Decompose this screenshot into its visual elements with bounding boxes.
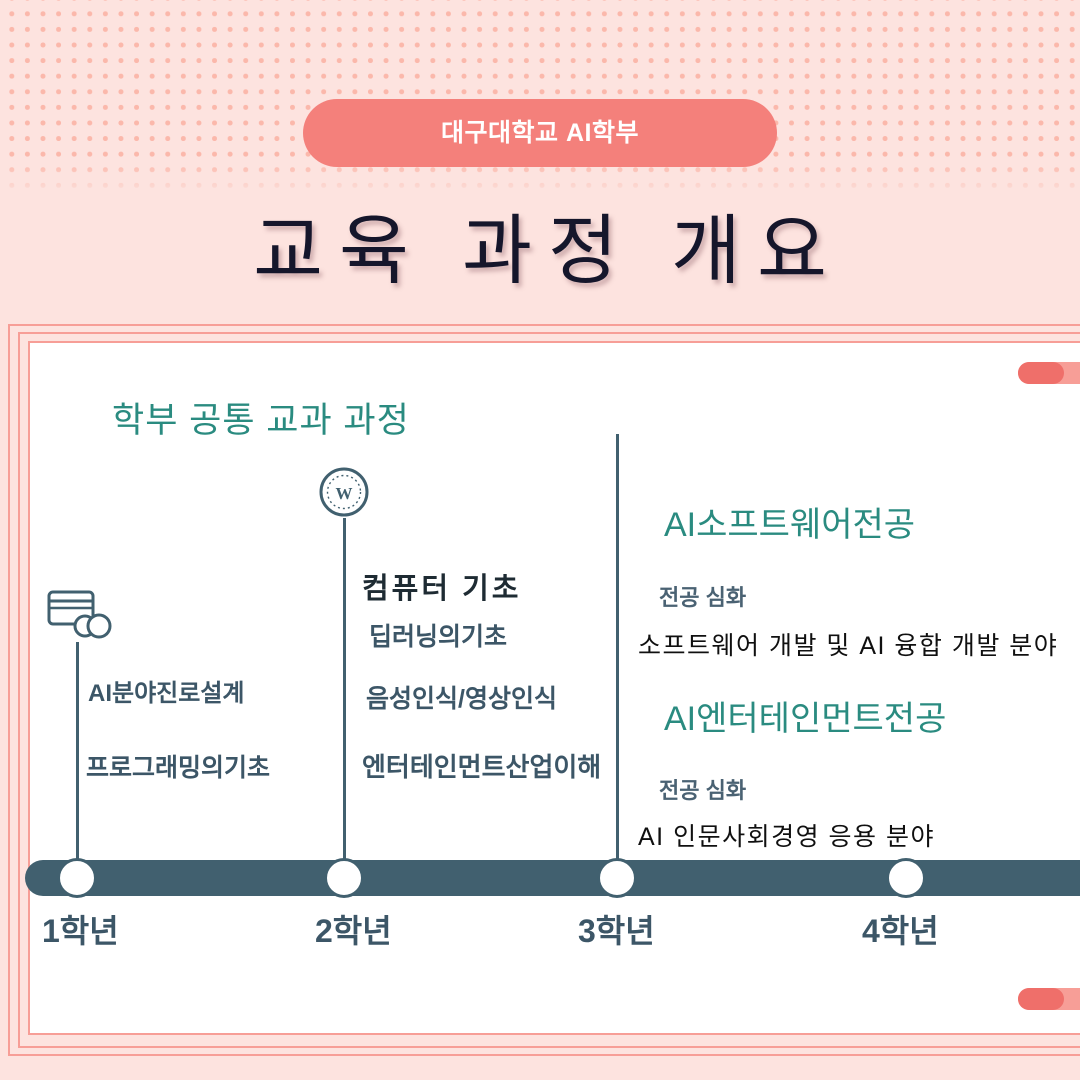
timeline-node-year2	[324, 858, 364, 898]
year1-course-2: 프로그래밍의기초	[86, 753, 270, 783]
major-2-subtitle: 전공 심화	[659, 773, 746, 805]
poster-canvas: 대구대학교 AI학부 교육 과정 개요 학부 공통 교과 과정 W AI분야진로…	[0, 0, 1080, 1080]
major-1-title: AI소프트웨어전공	[664, 497, 915, 546]
year-label-3: 3학년	[578, 906, 655, 952]
major-2-description: AI 인문사회경영 응용 분야	[638, 817, 935, 853]
page-title: 교육 과정 개요	[0, 212, 1080, 292]
year1-course-1: AI분야진로설계	[88, 680, 244, 709]
year2-course-1: 딥러닝의기초	[369, 622, 507, 652]
major-1-description: 소프트웨어 개발 및 AI 융합 개발 분야	[638, 626, 1058, 662]
decorative-tab-bottom	[1018, 988, 1080, 1010]
major-1-subtitle: 전공 심화	[659, 580, 746, 612]
year-label-1: 1학년	[42, 906, 119, 952]
timeline-node-year1	[57, 858, 97, 898]
decorative-tab-top	[1018, 362, 1080, 384]
connector-line-year1	[76, 642, 79, 876]
department-badge: 대구대학교 AI학부	[303, 99, 777, 167]
department-badge-label: 대구대학교 AI학부	[441, 121, 639, 146]
svg-text:W: W	[336, 484, 353, 503]
connector-line-year2	[343, 518, 346, 876]
year2-group-title: 컴퓨터 기초	[362, 565, 521, 607]
major-2-title: AI엔터테인먼트전공	[664, 691, 946, 740]
connector-line-year3	[616, 434, 619, 876]
timeline-node-year4	[886, 858, 926, 898]
year-label-4: 4학년	[862, 906, 939, 952]
year-label-2: 2학년	[315, 906, 392, 952]
coin-won-icon: W	[318, 466, 370, 518]
common-curriculum-heading: 학부 공통 교과 과정	[112, 392, 410, 443]
year2-course-3: 엔터테인먼트산업이해	[362, 752, 601, 783]
timeline-node-year3	[597, 858, 637, 898]
year2-course-2: 음성인식/영상인식	[366, 684, 557, 714]
credit-card-coins-icon	[47, 588, 113, 642]
